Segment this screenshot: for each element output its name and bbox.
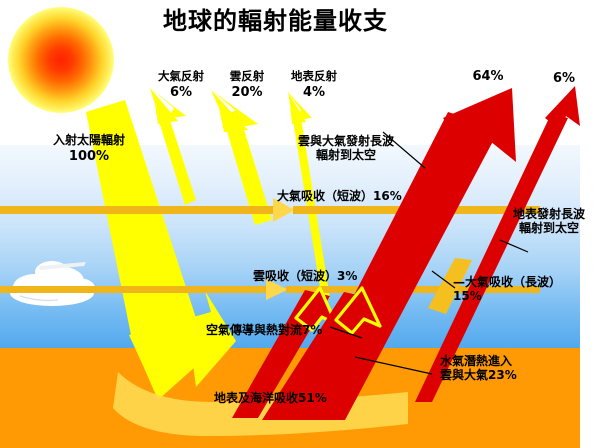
- latent-heat-label: 水氣潛熱進入 雲與大氣23%: [440, 355, 517, 383]
- atmosphere-longwave-absorption-label: —大氣吸收（長波） 15%: [453, 276, 561, 304]
- incoming-solar-value: 100%: [34, 150, 144, 165]
- outgoing-cloud-atmosphere-value: 64%: [464, 70, 512, 85]
- surface-reflection-label: 地表反射: [276, 70, 352, 83]
- cloud-shortwave-absorption-label: 雲吸收（短波）3%: [253, 270, 357, 284]
- incoming-solar-label: 入射太陽輻射: [34, 134, 144, 148]
- conduction-convection-label: 空氣傳導與熱對流7%: [206, 324, 322, 338]
- surface-emission-label: 地表發射長波 輻射到太空: [500, 208, 598, 236]
- radiation-budget-diagram: 地球的輻射能量收支 入射太陽輻射 100% 大氣反射 6% 雲反射 20% 地表…: [0, 0, 600, 448]
- surface-ocean-absorption-label: 地表及海洋吸收51%: [214, 392, 327, 406]
- atmosphere-reflection-label: 大氣反射: [143, 70, 219, 83]
- outgoing-surface-value: 6%: [544, 72, 584, 87]
- surface-reflection-value: 4%: [276, 86, 352, 101]
- atmosphere-shortwave-absorption-label: 大氣吸收（短波）16%: [277, 190, 402, 204]
- atmosphere-reflection-value: 6%: [143, 86, 219, 101]
- cloud-reflection-label: 雲反射: [214, 70, 280, 83]
- cloud-atmosphere-emission-label: 雲與大氣發射長波 輻射到太空: [281, 135, 411, 163]
- sun-icon: [8, 7, 114, 113]
- page-title: 地球的輻射能量收支: [163, 8, 388, 36]
- cloud-reflection-value: 20%: [214, 86, 280, 101]
